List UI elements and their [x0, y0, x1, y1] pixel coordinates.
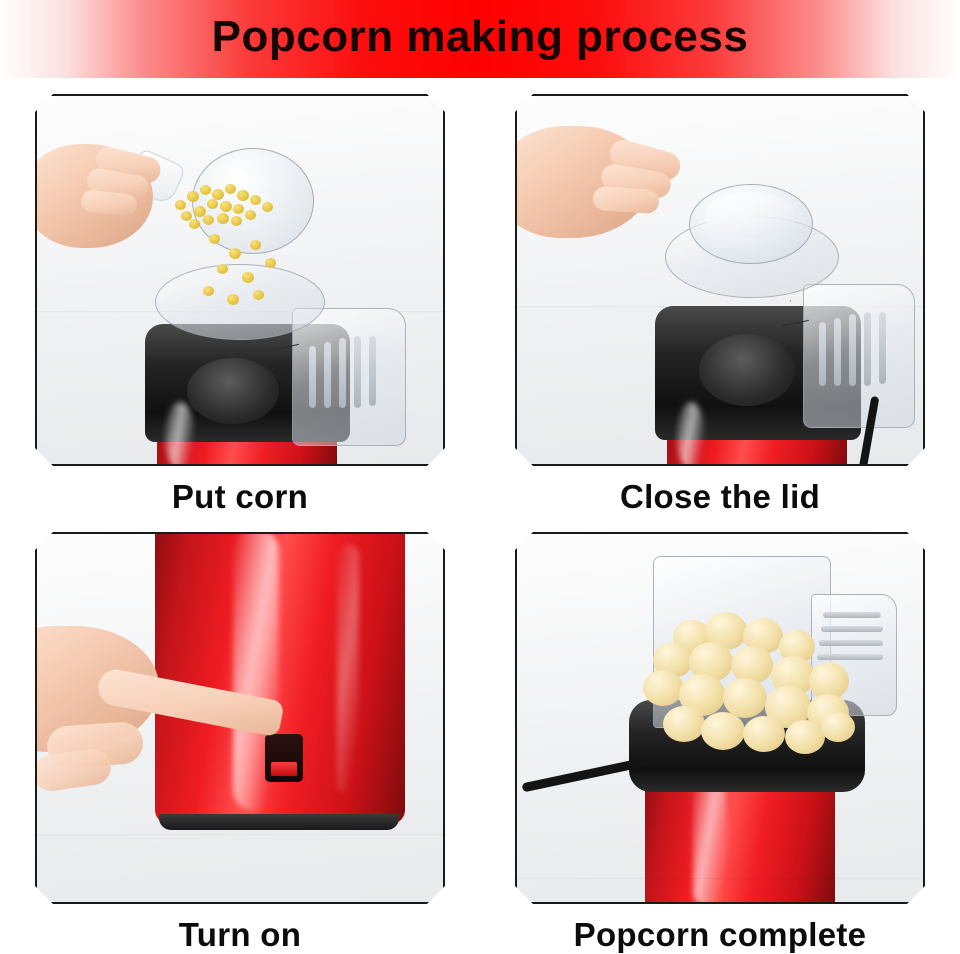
machine-base-foot: [159, 814, 399, 830]
steps-grid: Put corn: [0, 78, 960, 953]
step-label-3: Turn on: [179, 916, 301, 954]
kernel-falling: [209, 234, 220, 244]
vent-slot: [879, 312, 886, 384]
machine-chute-opening: [699, 334, 795, 406]
step-photo-close-the-lid: [517, 96, 923, 464]
kernel-falling: [203, 286, 214, 296]
step-label-2: Close the lid: [620, 478, 820, 516]
step-card-turn-on[interactable]: Turn on: [0, 516, 480, 954]
step-image-frame-2: [515, 94, 925, 466]
kernel-falling: [242, 272, 254, 283]
highlight: [337, 544, 359, 794]
step-label-1: Put corn: [172, 478, 308, 516]
step-photo-turn-on: [37, 534, 443, 902]
vent-slot: [354, 336, 361, 408]
vent-slot: [864, 312, 871, 386]
table-surface-line: [517, 878, 923, 880]
popcorn-icon: [639, 612, 859, 760]
power-switch-rocker[interactable]: [271, 762, 297, 776]
power-switch-icon[interactable]: [265, 734, 303, 782]
vent-slot: [849, 314, 856, 386]
step-photo-put-corn: [37, 96, 443, 464]
step-label-4: Popcorn complete: [574, 916, 867, 954]
vent-slot: [369, 336, 376, 406]
highlight: [677, 402, 705, 464]
kernel-falling: [265, 258, 276, 268]
vent-slot: [309, 346, 316, 408]
clear-top-collar: [155, 264, 325, 340]
header-banner: Popcorn making process: [0, 0, 960, 78]
vent-slot: [834, 318, 841, 386]
step-card-popcorn-complete[interactable]: Popcorn complete: [480, 516, 960, 954]
vent-slot: [324, 342, 331, 408]
highlight: [693, 774, 727, 902]
step-image-frame-4: [515, 532, 925, 904]
finger: [592, 186, 660, 215]
table-surface-line: [37, 834, 443, 836]
kernel-falling: [227, 294, 239, 305]
step-card-put-corn[interactable]: Put corn: [0, 78, 480, 516]
kernel-cluster: [173, 182, 283, 228]
step-image-frame-3: [35, 532, 445, 904]
highlight: [165, 402, 195, 464]
page-title: Popcorn making process: [212, 15, 749, 59]
kernel-falling: [217, 264, 228, 274]
machine-chute-opening: [187, 358, 279, 424]
step-photo-popcorn-complete: [517, 534, 923, 902]
kernel-falling: [250, 240, 261, 250]
vent-slot: [819, 322, 826, 386]
kernel-falling: [229, 248, 241, 259]
lid-highlight: [705, 192, 795, 238]
vent-slot: [339, 338, 346, 408]
kernel-falling: [253, 290, 264, 300]
step-image-frame-1: [35, 94, 445, 466]
step-card-close-the-lid[interactable]: Close the lid: [480, 78, 960, 516]
